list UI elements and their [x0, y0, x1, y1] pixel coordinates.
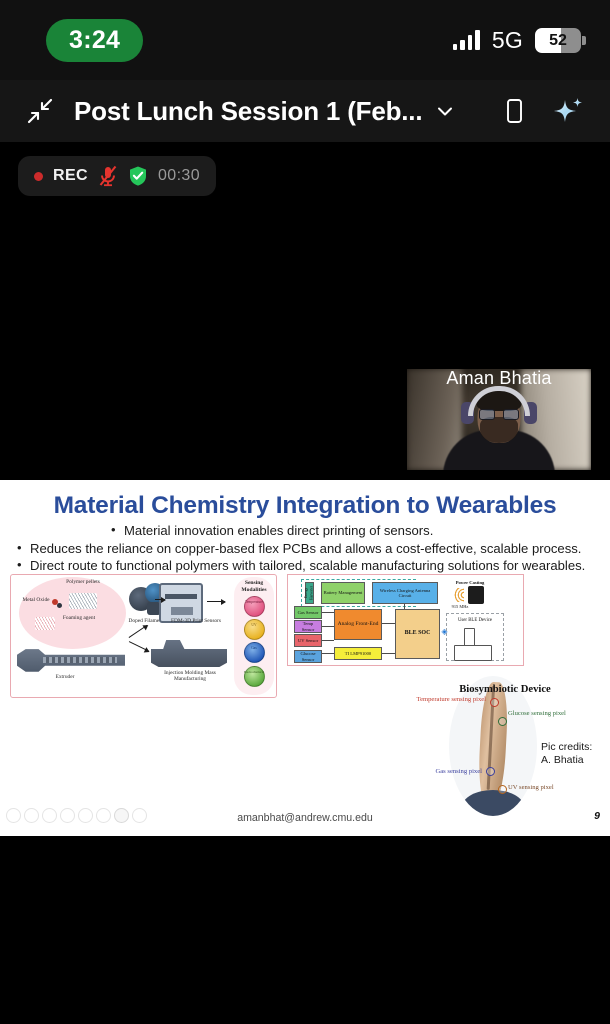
block-ti-lmp91000: TI LMP91000 [334, 647, 382, 660]
participant-glasses [479, 409, 519, 420]
recording-timer: 00:30 [158, 167, 200, 185]
temperature-sensing-pixel-icon [490, 698, 499, 707]
prev-slide-icon[interactable] [6, 808, 21, 823]
block-analog-front-end: Analog Front-End [334, 609, 382, 640]
picture-credits: Pic credits: A. Bhatia [541, 741, 592, 767]
wire-gas [322, 612, 334, 613]
block-temp-sensor: Temp Sensor [294, 620, 322, 633]
laser-pointer-icon[interactable] [60, 808, 75, 823]
temperature-sensing-pixel-label: Temperature sensing pixel [410, 696, 486, 704]
block-gas-sensor: Gas Sensor [294, 606, 322, 619]
block-wireless-charging: Wireless Charging Antenna Circuit [372, 582, 438, 604]
recording-badge[interactable]: REC 00:30 [18, 156, 216, 196]
status-indicators: 5G 52 [453, 27, 586, 54]
arrow-extruder-up [129, 625, 148, 638]
frequency-label: 915 MHz [444, 603, 476, 610]
modality-uv-icon: UV [244, 619, 265, 640]
block-diagram-figure: Energy Harvester Battery Management Wire… [287, 574, 524, 666]
wire-glucose [322, 653, 334, 654]
modality-electrochemical-label: Electrochemical [244, 670, 264, 674]
shared-slide[interactable]: Material Chemistry Integration to Wearab… [0, 480, 610, 836]
foaming-agent-label: Foaming agent [59, 615, 99, 621]
modality-uv-label: UV [251, 623, 256, 627]
signal-bars-icon [453, 30, 480, 50]
modality-gas-label: Gas [251, 646, 257, 650]
polymer-hexagons-icon [69, 593, 97, 609]
meeting-title: Post Lunch Session 1 (Feb... [74, 96, 422, 127]
network-type-label: 5G [492, 27, 523, 54]
bottom-background [0, 836, 610, 1024]
wire-charging-ble [404, 604, 405, 609]
biosymbiotic-title: Biosymbiotic Device [400, 684, 610, 695]
slide-bullet-list: Material innovation enables direct print… [0, 522, 610, 575]
glucose-sensing-pixel-label: Glucose sensing pixel [508, 710, 568, 718]
block-battery-management: Battery Management [321, 582, 365, 604]
gas-sensing-pixel-icon [486, 767, 495, 776]
battery-percent-label: 52 [535, 28, 581, 53]
meeting-header: Post Lunch Session 1 (Feb... [0, 80, 610, 142]
sensing-modalities-panel: Sensing Modalities Temperature UV Gas El… [234, 577, 274, 695]
pic-credits-line1: Pic credits: [541, 741, 592, 754]
process-figure: Metal Oxide Polymer pellets Foaming agen… [10, 574, 277, 698]
modality-temperature-icon: Temperature [244, 596, 265, 617]
slide-bullet: Reduces the reliance on copper-based fle… [14, 540, 598, 558]
user-device-label: User BLE Device [450, 615, 500, 627]
injection-molding-icon [151, 637, 227, 667]
metal-oxide-icon-2 [57, 603, 62, 608]
slide-bullet: Direct route to functional polymers with… [14, 557, 598, 575]
more-options-icon[interactable] [132, 808, 147, 823]
wire-ti-ble [382, 653, 395, 654]
user-laptop-icon [454, 645, 492, 661]
sensing-modalities-title: Sensing Modalities [234, 580, 274, 593]
arrow-filament-to-printer [155, 599, 165, 600]
user-phone-icon [464, 628, 475, 646]
block-glucose-sensor: Glucose Sensor [294, 650, 322, 663]
uv-sensing-pixel-label: UV sensing pixel [508, 784, 578, 792]
status-time: 3:24 [46, 19, 143, 62]
record-dot-icon [34, 172, 43, 181]
battery-cap-icon [582, 36, 586, 45]
arrow-printer-to-modalities [207, 601, 225, 602]
modality-temperature-label: Temperature [245, 600, 263, 604]
pen-tool-icon[interactable] [42, 808, 57, 823]
mic-muted-icon[interactable] [98, 165, 118, 187]
participant-name-label: Aman Bhatia [407, 368, 591, 389]
sparkle-ai-icon[interactable] [548, 91, 588, 131]
shield-check-icon[interactable] [128, 165, 148, 187]
injection-molding-label: Injection Molding Mass Manufacturing [151, 670, 229, 683]
slide-bullet: Material innovation enables direct print… [124, 522, 598, 540]
wire-afe-ble [382, 623, 395, 624]
battery-indicator: 52 [535, 28, 581, 53]
foaming-agent-icon [35, 617, 55, 630]
block-energy-harvester: Energy Harvester [305, 582, 314, 604]
grid-view-icon[interactable] [96, 808, 111, 823]
gas-sensing-pixel-label: Gas sensing pixel [410, 768, 482, 776]
wire-uv [322, 640, 334, 641]
extruder-label: Extruder [35, 674, 95, 680]
uv-sensing-pixel-icon [498, 785, 507, 794]
pic-credits-line2: A. Bhatia [541, 754, 592, 767]
power-transmitter-icon [468, 586, 484, 604]
wire-temp [322, 626, 334, 627]
modality-electrochemical-icon: Electrochemical [244, 666, 265, 687]
chevron-down-icon[interactable] [434, 100, 456, 122]
block-uv-sensor: UV Sensor [294, 634, 322, 647]
slide-page-number: 9 [594, 810, 600, 822]
presentation-toolbar[interactable] [6, 808, 147, 823]
play-slide-icon[interactable] [24, 808, 39, 823]
slide-title: Material Chemistry Integration to Wearab… [0, 492, 610, 520]
phone-device-icon[interactable] [494, 91, 534, 131]
zoom-tool-icon[interactable] [78, 808, 93, 823]
glucose-sensing-pixel-icon [498, 717, 507, 726]
camera-tool-icon[interactable] [114, 808, 129, 823]
material-blob [19, 577, 126, 649]
status-bar: 3:24 5G 52 [0, 0, 610, 80]
metal-oxide-label: Metal Oxide [21, 597, 51, 603]
polymer-pellets-label: Polymer pellets [61, 579, 105, 585]
extruder-icon [17, 647, 125, 673]
participant-beard [480, 417, 518, 443]
antenna-waves-icon [448, 588, 464, 602]
rec-label: REC [53, 167, 88, 185]
modality-gas-icon: Gas [244, 642, 265, 663]
block-ble-soc: BLE SOC [395, 609, 440, 659]
fdm-printer-label: FDM-3D Print Sensors [166, 618, 226, 624]
fdm-printer-icon [159, 583, 203, 623]
arrow-extruder-down [129, 641, 149, 652]
collapse-arrows-icon[interactable] [20, 91, 60, 131]
